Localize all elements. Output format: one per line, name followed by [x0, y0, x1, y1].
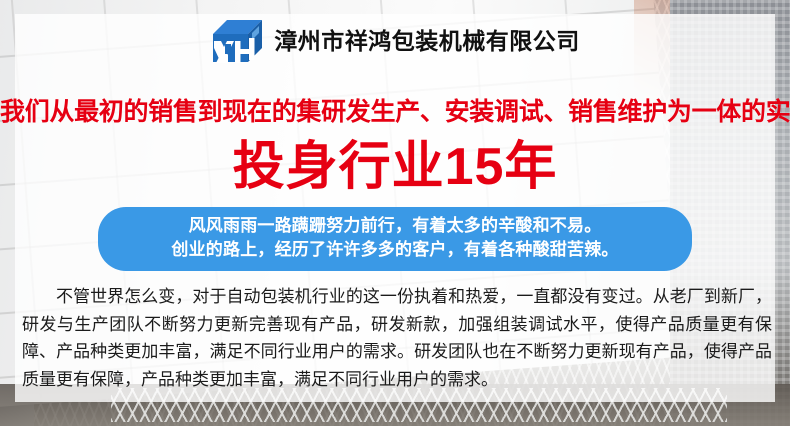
banner-root: 漳州市祥鸿包装机械有限公司 我们从最初的销售到现在的集研发生产、安装调试、销售维…	[0, 0, 790, 426]
body-paragraph: 不管世界怎么变，对于自动包装机行业的这一份执着和热爱，一直都没有变过。从老厂到新…	[22, 283, 772, 393]
xh-cube-logo-icon	[210, 18, 264, 64]
quote-box: 风风雨雨一路蹒跚努力前行，有着太多的辛酸和不易。 创业的路上，经历了许许多多的客…	[98, 207, 692, 271]
header: 漳州市祥鸿包装机械有限公司	[0, 18, 790, 64]
headline-text: 投身行业15年	[0, 141, 790, 193]
slogan-text: 我们从最初的销售到现在的集研发生产、安装调试、销售维护为一体的实体公司	[0, 100, 790, 125]
quote-line-2: 创业的路上，经历了许许多多的客户，有着各种酸甜苦辣。	[98, 238, 692, 262]
company-name: 漳州市祥鸿包装机械有限公司	[274, 30, 580, 53]
quote-line-1: 风风雨雨一路蹒跚努力前行，有着太多的辛酸和不易。	[98, 214, 692, 238]
